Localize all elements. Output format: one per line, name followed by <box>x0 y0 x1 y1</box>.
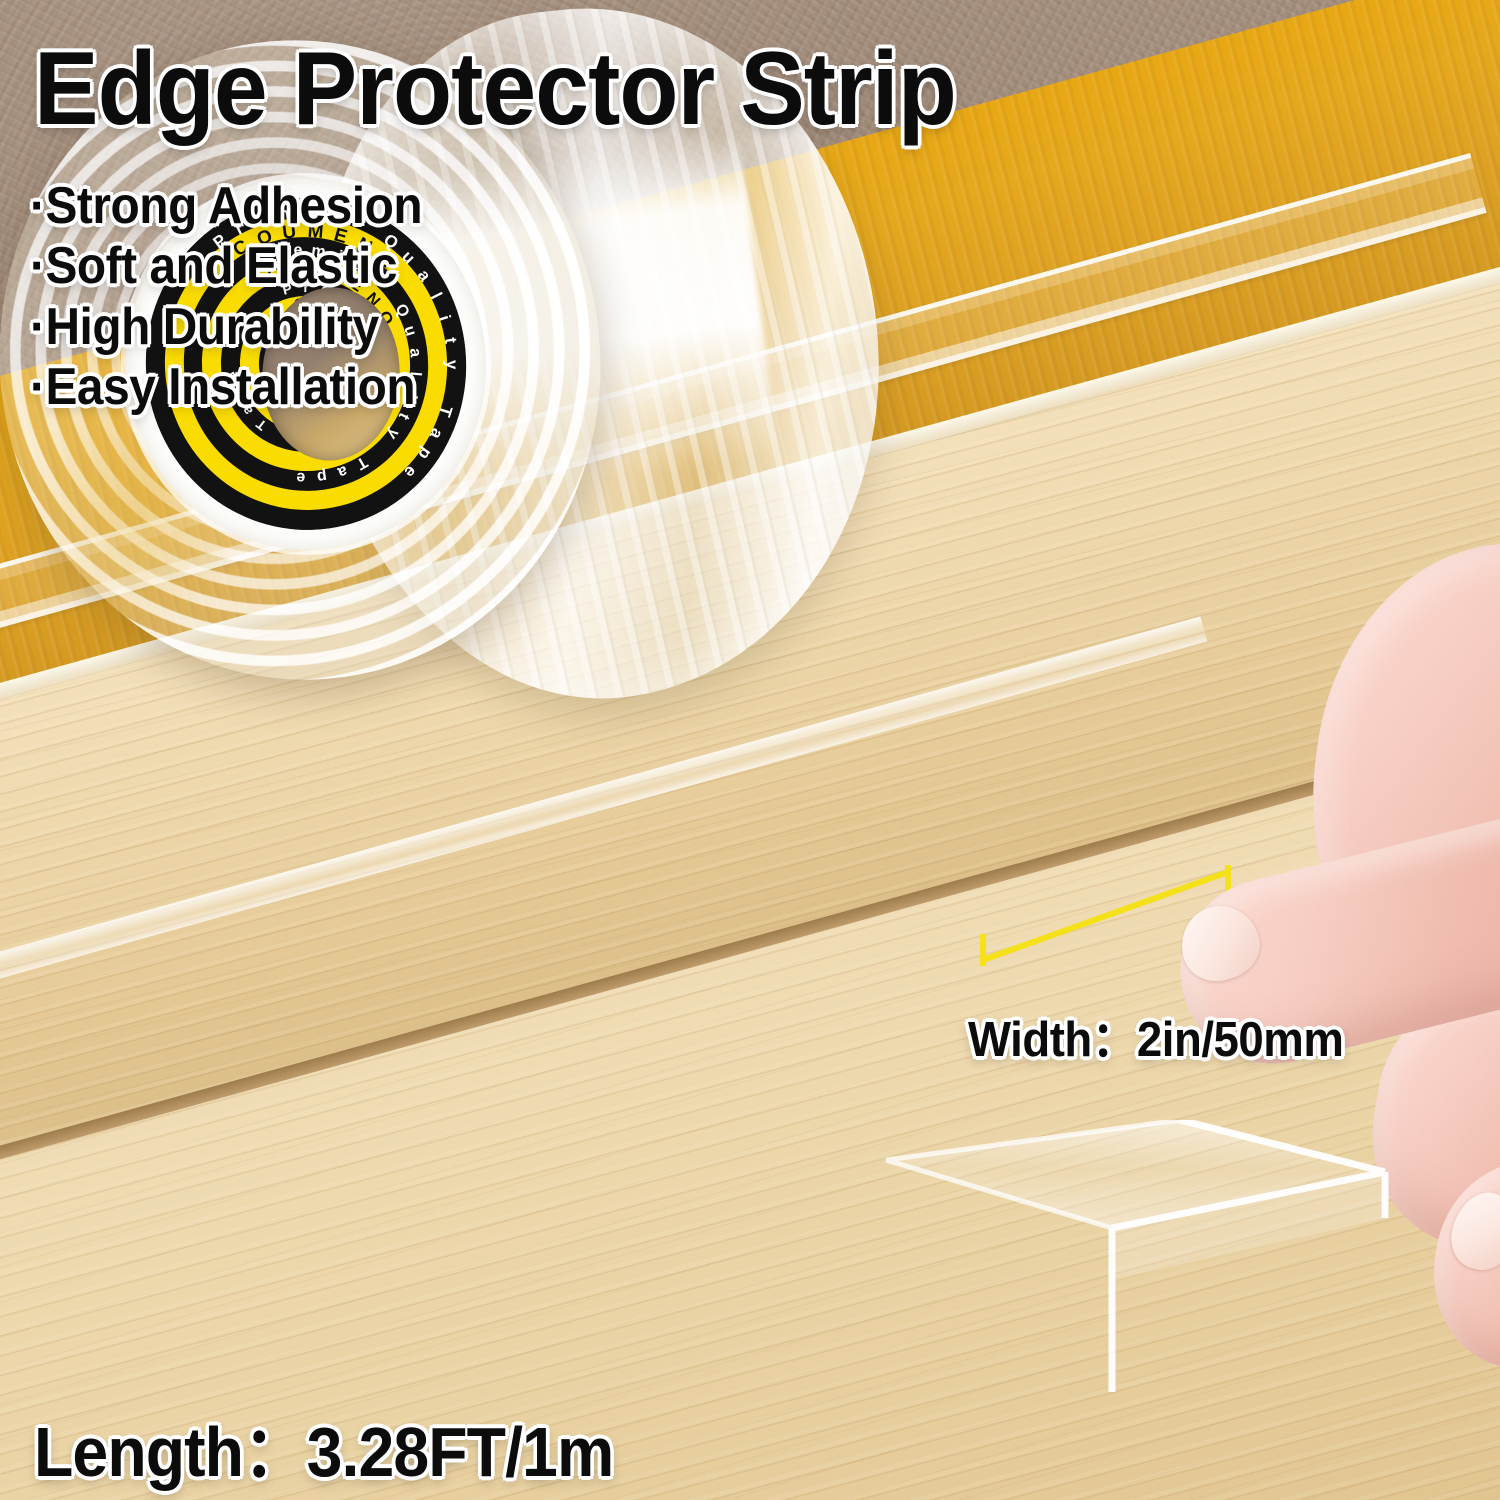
feature-item-3: ·High Durability <box>30 297 422 357</box>
page-title: Edge Protector Strip <box>34 36 956 142</box>
length-spec-label: Length：3.28FT/1m <box>34 1396 613 1497</box>
label-char: e <box>296 467 306 485</box>
feature-item-4: ·Easy Installation <box>30 357 422 417</box>
feature-item-1: ·Strong Adhesion <box>30 176 422 236</box>
feature-item-2: ·Soft and Elastic <box>30 236 422 296</box>
product-image: PremiumQualityTapeCOUMENOPremiumQualityT… <box>0 0 1500 1500</box>
feature-list: ·Strong Adhesion ·Soft and Elastic ·High… <box>30 176 456 417</box>
width-spec-label: Width：2in/50mm <box>968 1000 1343 1071</box>
